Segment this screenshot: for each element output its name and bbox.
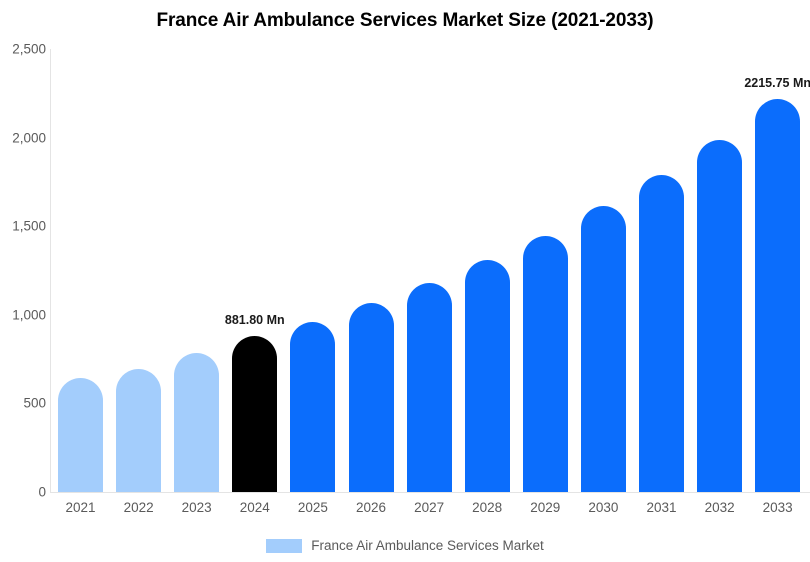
x-axis-tick-2032: 2032 (687, 500, 752, 515)
x-axis-tick-2027: 2027 (397, 500, 462, 515)
bar-2022[interactable] (116, 369, 161, 492)
bar-2021[interactable] (58, 378, 103, 492)
bar-2025[interactable] (290, 322, 335, 492)
x-axis-tick-2022: 2022 (106, 500, 171, 515)
x-axis-tick-labels: 2021202220232024202520262027202820292030… (50, 500, 810, 524)
y-axis-tick-2500: 2,500 (2, 42, 46, 57)
x-axis-tick-2025: 2025 (280, 500, 345, 515)
legend-swatch-france-air-ambulance-services-market (266, 539, 302, 553)
bar-2026[interactable] (349, 303, 394, 492)
bar-2024[interactable] (232, 336, 277, 492)
y-axis-tick-0: 0 (2, 485, 46, 500)
y-axis-tick-labels: 05001,0001,5002,0002,500 (0, 0, 46, 562)
x-axis-line (50, 492, 810, 493)
y-axis-tick-1000: 1,000 (2, 307, 46, 322)
x-axis-tick-2028: 2028 (455, 500, 520, 515)
y-axis-tick-500: 500 (2, 396, 46, 411)
y-axis-tick-2000: 2,000 (2, 130, 46, 145)
bar-chart: France Air Ambulance Services Market Siz… (0, 0, 810, 562)
chart-title: France Air Ambulance Services Market Siz… (0, 10, 810, 32)
x-axis-tick-2029: 2029 (513, 500, 578, 515)
bar-2028[interactable] (465, 260, 510, 492)
bar-2029[interactable] (523, 236, 568, 492)
x-axis-tick-2026: 2026 (339, 500, 404, 515)
bars-container (50, 49, 810, 492)
bar-2031[interactable] (639, 175, 684, 492)
x-axis-tick-2030: 2030 (571, 500, 636, 515)
x-axis-tick-2023: 2023 (164, 500, 229, 515)
bar-2032[interactable] (697, 140, 742, 492)
x-axis-tick-2033: 2033 (745, 500, 810, 515)
bar-2027[interactable] (407, 283, 452, 492)
x-axis-tick-2021: 2021 (48, 500, 113, 515)
x-axis-tick-2031: 2031 (629, 500, 694, 515)
bar-2033[interactable] (755, 99, 800, 492)
bar-2030[interactable] (581, 206, 626, 492)
x-axis-tick-2024: 2024 (222, 500, 287, 515)
legend-label-france-air-ambulance-services-market: France Air Ambulance Services Market (311, 538, 544, 553)
y-axis-tick-1500: 1,500 (2, 219, 46, 234)
chart-legend: France Air Ambulance Services Market (0, 538, 810, 553)
bar-2023[interactable] (174, 353, 219, 492)
